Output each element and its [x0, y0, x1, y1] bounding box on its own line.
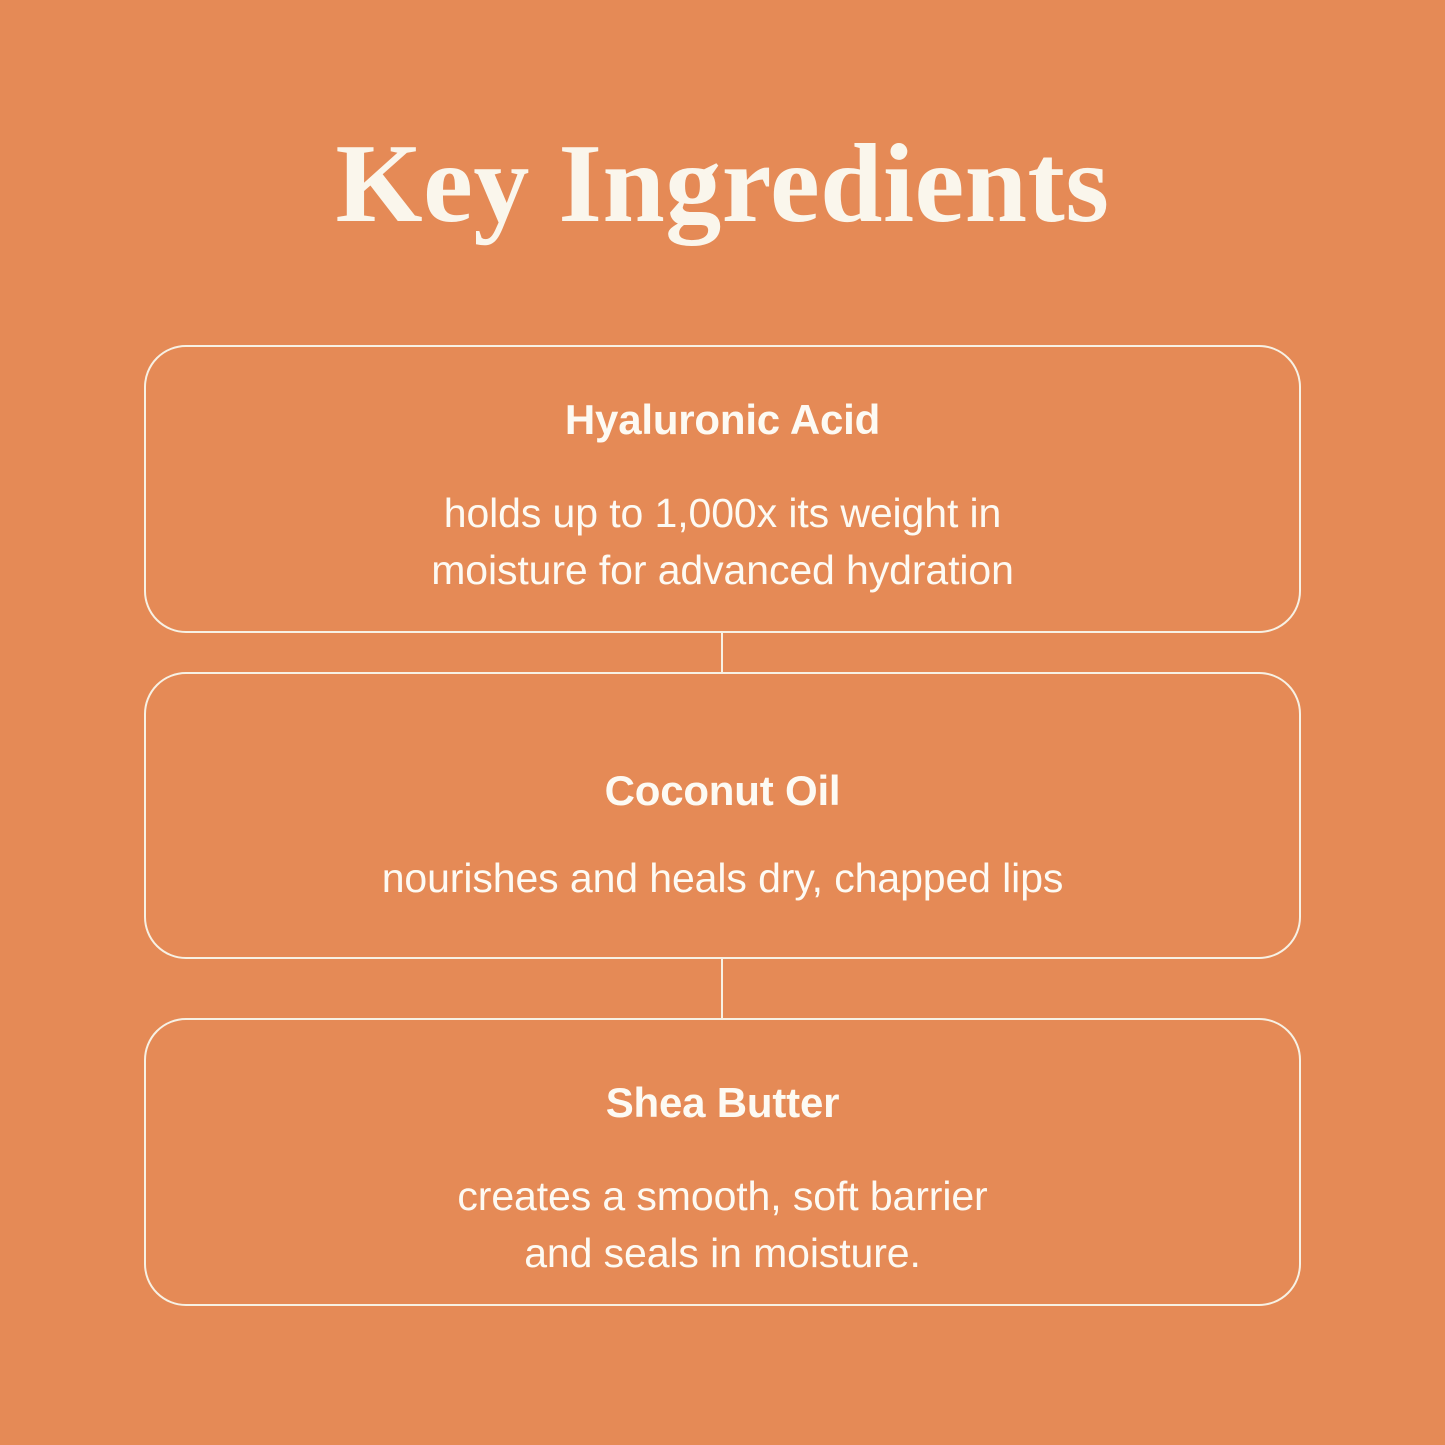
infographic-canvas: Key Ingredients Hyaluronic Acid holds up… — [0, 0, 1445, 1445]
connector-line-2 — [721, 957, 723, 1019]
description-line: and seals in moisture. — [146, 1225, 1299, 1282]
ingredient-name: Hyaluronic Acid — [146, 399, 1299, 441]
description-line: creates a smooth, soft barrier — [146, 1168, 1299, 1225]
page-title: Key Ingredients — [0, 128, 1445, 240]
description-line: moisture for advanced hydration — [146, 542, 1299, 599]
ingredient-card-hyaluronic-acid: Hyaluronic Acid holds up to 1,000x its w… — [144, 345, 1301, 633]
ingredient-description: creates a smooth, soft barrier and seals… — [146, 1168, 1299, 1282]
ingredient-name: Shea Butter — [146, 1082, 1299, 1124]
ingredient-description: nourishes and heals dry, chapped lips — [146, 850, 1299, 907]
card-content: Coconut Oil nourishes and heals dry, cha… — [146, 770, 1299, 907]
card-content: Hyaluronic Acid holds up to 1,000x its w… — [146, 399, 1299, 599]
ingredient-card-coconut-oil: Coconut Oil nourishes and heals dry, cha… — [144, 672, 1301, 959]
description-line: holds up to 1,000x its weight in — [146, 485, 1299, 542]
card-content: Shea Butter creates a smooth, soft barri… — [146, 1082, 1299, 1282]
ingredient-card-shea-butter: Shea Butter creates a smooth, soft barri… — [144, 1018, 1301, 1306]
ingredient-description: holds up to 1,000x its weight in moistur… — [146, 485, 1299, 599]
ingredient-name: Coconut Oil — [146, 770, 1299, 812]
connector-line-1 — [721, 632, 723, 674]
description-line: nourishes and heals dry, chapped lips — [146, 850, 1299, 907]
